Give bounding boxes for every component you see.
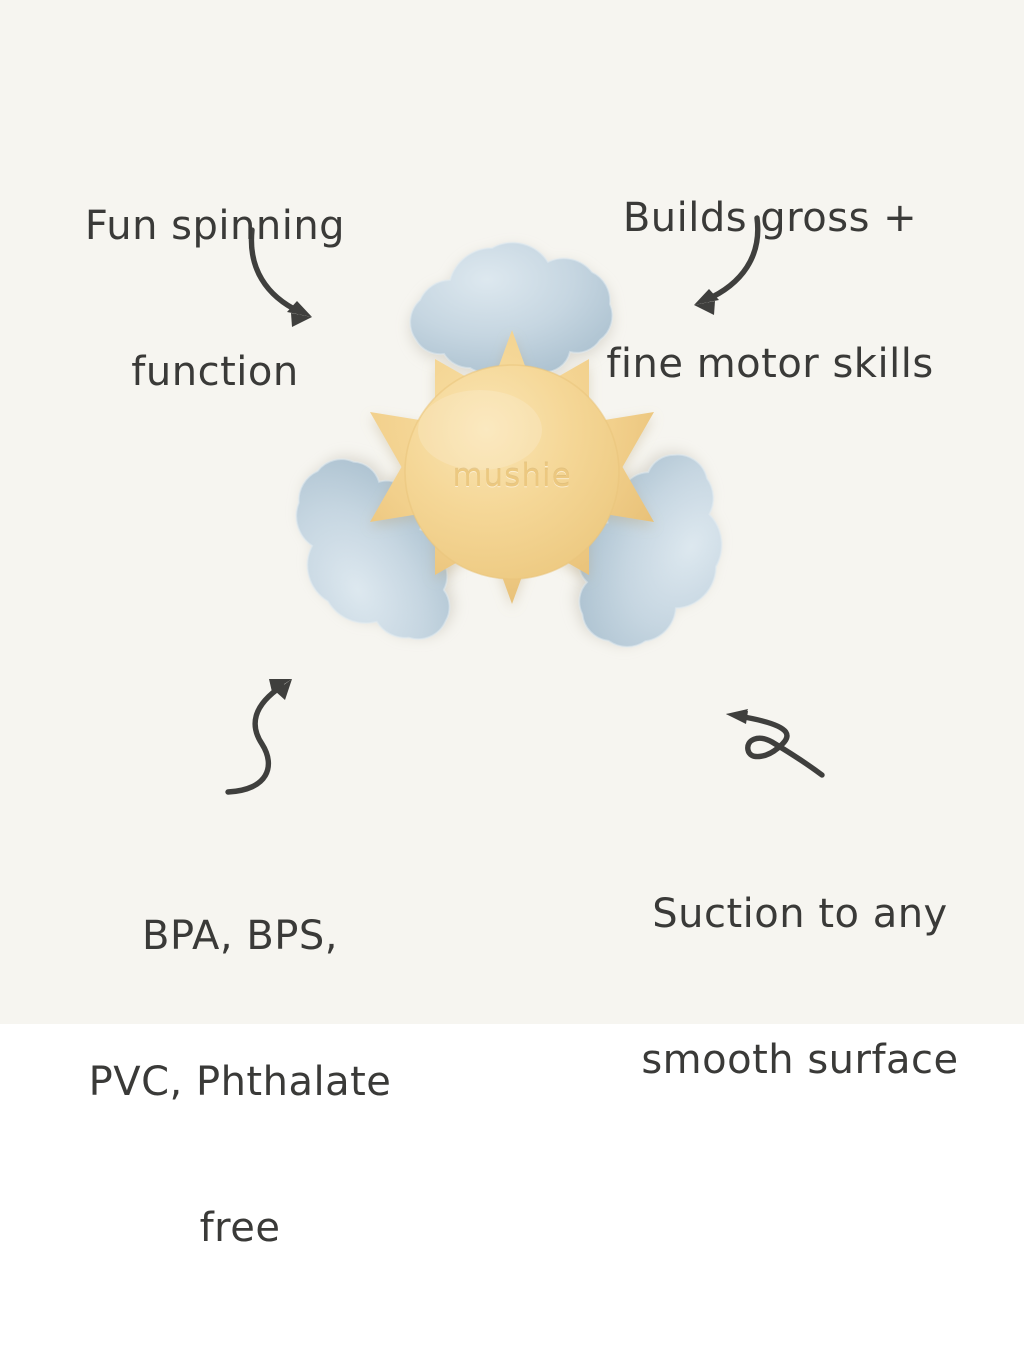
callout-line: BPA, BPS,	[40, 912, 440, 961]
callout-line: fine motor skills	[560, 340, 980, 389]
callout-fun-spinning: Fun spinning function	[0, 104, 430, 494]
callout-line: free	[40, 1204, 440, 1253]
callout-bpa-free: BPA, BPS, PVC, Phthalate free	[40, 814, 440, 1351]
callout-line: Fun spinning	[0, 202, 430, 251]
callout-line: PVC, Phthalate	[40, 1058, 440, 1107]
product-feature-infographic: mushie Fun spinning funct	[0, 0, 1024, 1024]
callout-line: Builds gross +	[560, 194, 980, 243]
callout-suction-surface: Suction to any smooth surface	[600, 792, 1000, 1182]
callout-line: Suction to any	[600, 890, 1000, 939]
callout-builds-motor-skills: Builds gross + fine motor skills	[560, 96, 980, 486]
callout-line: smooth surface	[600, 1036, 1000, 1085]
callout-line: function	[0, 348, 430, 397]
